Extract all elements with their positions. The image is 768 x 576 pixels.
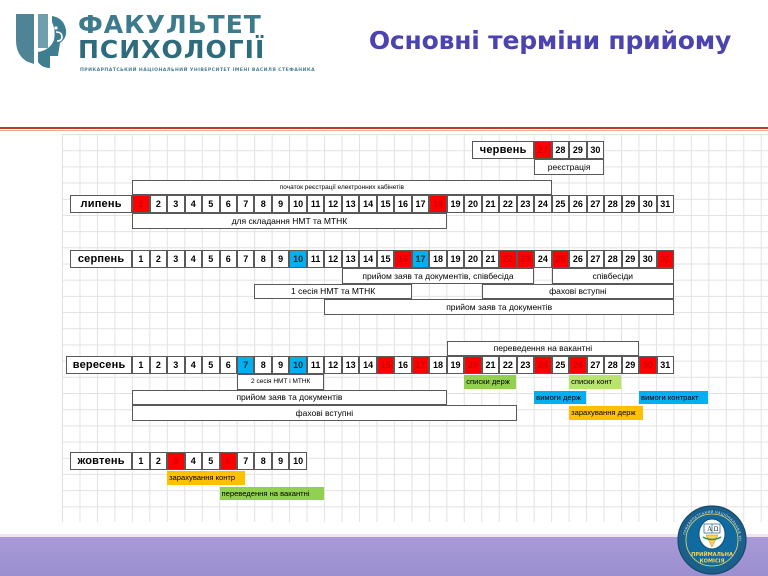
- month-label-липень: липень: [70, 195, 132, 213]
- day-cell-червень-30: 30: [587, 141, 604, 159]
- day-cell-липень-26: 26: [569, 195, 586, 213]
- timeline-bar: 1 сесія НМТ та МТНК: [254, 284, 411, 300]
- day-cell-вересень-12: 12: [324, 356, 341, 374]
- day-cell-серпень-29: 29: [622, 250, 639, 268]
- day-cell-серпень-27: 27: [587, 250, 604, 268]
- footer-band: [0, 537, 768, 576]
- day-cell-жовтень-1: 1: [132, 452, 149, 470]
- day-cell-вересень-5: 5: [202, 356, 219, 374]
- day-cell-вересень-7: 7: [237, 356, 254, 374]
- day-cell-вересень-3: 3: [167, 356, 184, 374]
- day-cell-липень-21: 21: [482, 195, 499, 213]
- timeline-bar: фахові вступні: [132, 405, 517, 421]
- day-cell-вересень-20: 20: [464, 356, 481, 374]
- day-cell-липень-31: 31: [657, 195, 674, 213]
- admissions-committee-seal: Α Ω ПРИЙМАЛЬНА КОМІСІЯ ПРИКАРПАТСЬКИЙ НА…: [676, 504, 748, 576]
- day-cell-серпень-22: 22: [499, 250, 516, 268]
- day-cell-вересень-1: 1: [132, 356, 149, 374]
- day-cell-жовтень-3: 3: [167, 452, 184, 470]
- day-cell-липень-12: 12: [324, 195, 341, 213]
- day-cell-липень-22: 22: [499, 195, 516, 213]
- day-cell-серпень-1: 1: [132, 250, 149, 268]
- day-cell-липень-29: 29: [622, 195, 639, 213]
- month-label-червень: червень: [472, 141, 534, 159]
- day-cell-вересень-21: 21: [482, 356, 499, 374]
- day-cell-липень-7: 7: [237, 195, 254, 213]
- day-cell-серпень-28: 28: [604, 250, 621, 268]
- day-cell-липень-18: 18: [429, 195, 446, 213]
- day-cell-липень-2: 2: [150, 195, 167, 213]
- day-cell-серпень-26: 26: [569, 250, 586, 268]
- day-cell-серпень-12: 12: [324, 250, 341, 268]
- day-cell-серпень-8: 8: [254, 250, 271, 268]
- day-cell-жовтень-7: 7: [237, 452, 254, 470]
- day-cell-серпень-16: 16: [394, 250, 411, 268]
- day-cell-липень-23: 23: [517, 195, 534, 213]
- day-cell-серпень-6: 6: [220, 250, 237, 268]
- day-cell-вересень-9: 9: [272, 356, 289, 374]
- day-cell-липень-30: 30: [639, 195, 656, 213]
- day-cell-липень-9: 9: [272, 195, 289, 213]
- day-cell-серпень-7: 7: [237, 250, 254, 268]
- day-cell-серпень-5: 5: [202, 250, 219, 268]
- day-cell-вересень-25: 25: [552, 356, 569, 374]
- svg-text:ПРИЙМАЛЬНА: ПРИЙМАЛЬНА: [691, 550, 733, 558]
- day-cell-липень-1: 1: [132, 195, 149, 213]
- day-cell-вересень-10: 10: [289, 356, 306, 374]
- timeline-tag: переведення на вакантні: [220, 487, 324, 501]
- timeline-bar: співбесіди: [552, 268, 674, 284]
- day-cell-липень-8: 8: [254, 195, 271, 213]
- day-cell-вересень-26: 26: [569, 356, 586, 374]
- day-cell-вересень-31: 31: [657, 356, 674, 374]
- day-cell-серпень-30: 30: [639, 250, 656, 268]
- day-cell-серпень-18: 18: [429, 250, 446, 268]
- day-cell-серпень-21: 21: [482, 250, 499, 268]
- day-cell-вересень-19: 19: [447, 356, 464, 374]
- day-cell-вересень-6: 6: [220, 356, 237, 374]
- day-cell-вересень-17: 17: [412, 356, 429, 374]
- day-cell-липень-16: 16: [394, 195, 411, 213]
- day-cell-липень-6: 6: [220, 195, 237, 213]
- day-cell-серпень-14: 14: [359, 250, 376, 268]
- day-cell-липень-14: 14: [359, 195, 376, 213]
- day-cell-червень-28: 28: [552, 141, 569, 159]
- day-cell-серпень-31: 31: [657, 250, 674, 268]
- day-cell-вересень-27: 27: [587, 356, 604, 374]
- day-cell-серпень-20: 20: [464, 250, 481, 268]
- day-cell-вересень-11: 11: [307, 356, 324, 374]
- timeline-bar: прийом заяв та документів: [324, 299, 674, 315]
- day-cell-вересень-30: 30: [639, 356, 656, 374]
- timeline-tag: вимоги держ: [534, 391, 586, 405]
- svg-text:Ω: Ω: [714, 526, 719, 533]
- day-cell-серпень-15: 15: [377, 250, 394, 268]
- day-cell-липень-20: 20: [464, 195, 481, 213]
- timeline-bar: для складання НМТ та МТНК: [132, 213, 447, 229]
- day-cell-вересень-23: 23: [517, 356, 534, 374]
- day-cell-серпень-23: 23: [517, 250, 534, 268]
- day-cell-серпень-17: 17: [412, 250, 429, 268]
- svg-text:КОМІСІЯ: КОМІСІЯ: [699, 559, 724, 565]
- timeline-bar: початок реєстрації електронних кабінетів: [132, 180, 552, 196]
- timeline-tag: вимоги контракт: [639, 391, 708, 405]
- day-cell-липень-5: 5: [202, 195, 219, 213]
- day-cell-липень-25: 25: [552, 195, 569, 213]
- day-cell-жовтень-6: 6: [220, 452, 237, 470]
- month-label-жовтень: жовтень: [70, 452, 132, 470]
- day-cell-серпень-24: 24: [534, 250, 551, 268]
- day-cell-серпень-13: 13: [342, 250, 359, 268]
- timeline-bar: переведення на вакантні: [447, 341, 639, 357]
- day-cell-серпень-3: 3: [167, 250, 184, 268]
- month-label-серпень: серпень: [70, 250, 132, 268]
- day-cell-вересень-24: 24: [534, 356, 551, 374]
- day-cell-вересень-15: 15: [377, 356, 394, 374]
- day-cell-вересень-14: 14: [359, 356, 376, 374]
- svg-text:Α: Α: [707, 526, 713, 533]
- timeline-bar: прийом заяв та документів, співбесіда: [342, 268, 534, 284]
- timeline-tag: зарахування держ: [569, 406, 643, 420]
- timeline-bar: фахові вступні: [482, 284, 674, 300]
- day-cell-липень-13: 13: [342, 195, 359, 213]
- day-cell-серпень-10: 10: [289, 250, 306, 268]
- day-cell-вересень-13: 13: [342, 356, 359, 374]
- day-cell-серпень-4: 4: [185, 250, 202, 268]
- day-cell-жовтень-4: 4: [185, 452, 202, 470]
- day-cell-жовтень-5: 5: [202, 452, 219, 470]
- timeline-bar: прийом заяв та документів: [132, 390, 447, 406]
- admission-timeline-chart: червень27282930реєстраціялипень123456789…: [0, 0, 768, 576]
- day-cell-червень-29: 29: [569, 141, 586, 159]
- timeline-bar: 2 сесія НМТ і МТНК: [237, 374, 324, 390]
- day-cell-вересень-18: 18: [429, 356, 446, 374]
- timeline-tag: списки держ: [464, 375, 516, 389]
- timeline-tag: зарахування контр: [167, 471, 245, 485]
- day-cell-липень-15: 15: [377, 195, 394, 213]
- day-cell-серпень-2: 2: [150, 250, 167, 268]
- day-cell-вересень-2: 2: [150, 356, 167, 374]
- timeline-tag: списки конт: [569, 375, 621, 389]
- day-cell-липень-11: 11: [307, 195, 324, 213]
- day-cell-серпень-9: 9: [272, 250, 289, 268]
- day-cell-серпень-11: 11: [307, 250, 324, 268]
- day-cell-вересень-22: 22: [499, 356, 516, 374]
- day-cell-серпень-19: 19: [447, 250, 464, 268]
- day-cell-вересень-16: 16: [394, 356, 411, 374]
- day-cell-жовтень-10: 10: [289, 452, 306, 470]
- day-cell-липень-28: 28: [604, 195, 621, 213]
- day-cell-серпень-25: 25: [552, 250, 569, 268]
- day-cell-вересень-8: 8: [254, 356, 271, 374]
- day-cell-липень-3: 3: [167, 195, 184, 213]
- timeline-bar: реєстрація: [534, 159, 604, 175]
- day-cell-липень-4: 4: [185, 195, 202, 213]
- day-cell-вересень-28: 28: [604, 356, 621, 374]
- day-cell-липень-10: 10: [289, 195, 306, 213]
- day-cell-жовтень-9: 9: [272, 452, 289, 470]
- day-cell-липень-19: 19: [447, 195, 464, 213]
- day-cell-жовтень-8: 8: [254, 452, 271, 470]
- day-cell-вересень-4: 4: [185, 356, 202, 374]
- day-cell-вересень-29: 29: [622, 356, 639, 374]
- day-cell-жовтень-2: 2: [150, 452, 167, 470]
- day-cell-липень-17: 17: [412, 195, 429, 213]
- month-label-вересень: вересень: [66, 356, 132, 374]
- day-cell-червень-27: 27: [534, 141, 551, 159]
- day-cell-липень-24: 24: [534, 195, 551, 213]
- day-cell-липень-27: 27: [587, 195, 604, 213]
